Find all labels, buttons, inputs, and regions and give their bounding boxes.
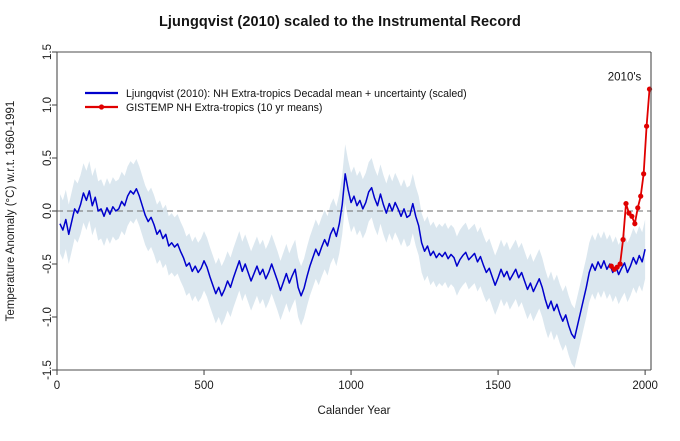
y-tick-label: -0.5 — [42, 254, 54, 274]
y-axis-label: Temperature Anomaly (°C) w.r.t. 1960-199… — [5, 101, 17, 322]
data-point-marker — [620, 237, 625, 242]
chart-legend: Ljungqvist (2010): NH Extra-tropics Deca… — [85, 88, 467, 114]
data-point-marker — [638, 194, 643, 199]
data-point-marker — [629, 214, 634, 219]
annotation-label: 2010's — [608, 72, 642, 84]
x-axis-label: Calander Year — [318, 405, 391, 417]
y-tick-label: 0.0 — [42, 203, 54, 219]
data-point-marker — [635, 205, 640, 210]
data-point-marker — [618, 261, 623, 266]
data-point-marker — [641, 171, 646, 176]
legend-label: GISTEMP NH Extra-tropics (10 yr means) — [126, 102, 322, 114]
x-tick-label: 1500 — [485, 380, 511, 392]
data-point-marker — [644, 124, 649, 129]
legend-label: Ljungqvist (2010): NH Extra-tropics Deca… — [126, 88, 467, 100]
x-tick-label: 1000 — [338, 380, 364, 392]
chart-container: Ljungqvist (2010) scaled to the Instrume… — [0, 0, 680, 441]
x-axis-ticks: 0500100015002000 — [54, 370, 658, 392]
y-tick-label: -1.5 — [42, 360, 54, 380]
uncertainty-band — [60, 144, 645, 368]
x-tick-label: 500 — [194, 380, 213, 392]
x-tick-label: 0 — [54, 380, 60, 392]
y-tick-label: -1.0 — [42, 307, 54, 327]
data-point-marker — [632, 221, 637, 226]
legend-swatch-marker — [99, 104, 104, 109]
y-tick-label: 0.5 — [42, 150, 54, 166]
y-axis-ticks: -1.5-1.0-0.50.00.51.01.5 — [42, 44, 57, 380]
chart-plot-area: -1.5-1.0-0.50.00.51.01.5 050010001500200… — [0, 0, 680, 441]
x-tick-label: 2000 — [632, 380, 658, 392]
y-tick-label: 1.0 — [42, 97, 54, 113]
data-point-marker — [623, 201, 628, 206]
y-tick-label: 1.5 — [42, 44, 54, 60]
annotation-2010s: 2010's — [608, 72, 642, 84]
